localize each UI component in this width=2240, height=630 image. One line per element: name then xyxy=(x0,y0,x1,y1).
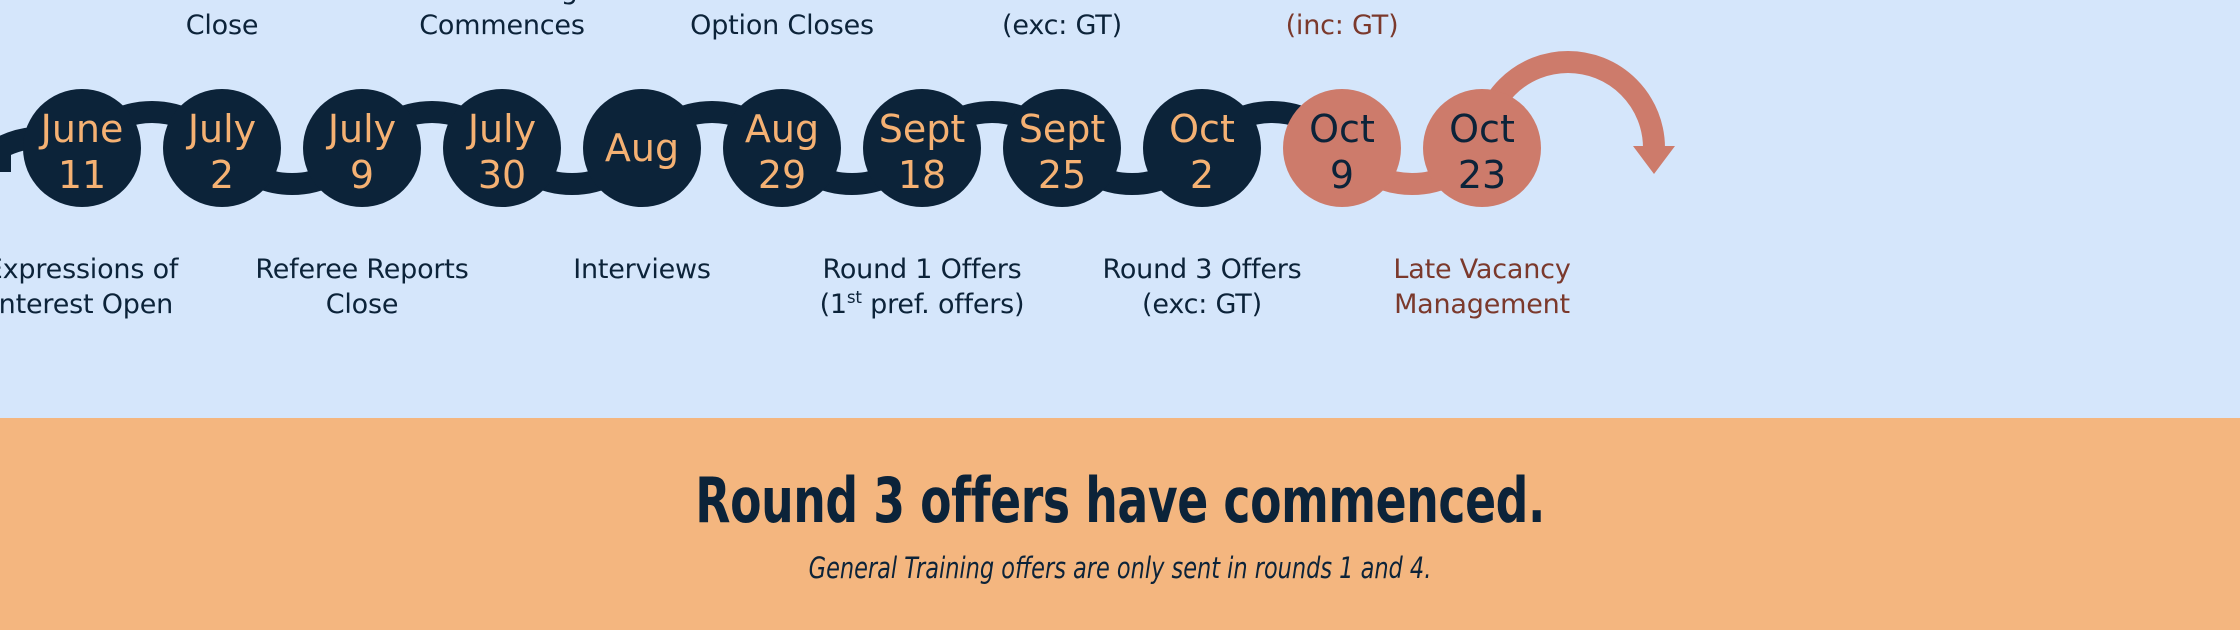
status-banner: Round 3 offers have commenced. General T… xyxy=(0,418,2240,630)
banner-headline: Round 3 offers have commenced. xyxy=(695,464,1545,537)
timeline-node-label-line: Round 4 Offers xyxy=(1142,0,1542,9)
timeline-node-month: July xyxy=(186,107,256,151)
timeline-node-label-line: (inc: GT) xyxy=(1142,9,1542,44)
timeline-node-month: Aug xyxy=(605,126,679,170)
timeline-node-day: 30 xyxy=(478,153,526,197)
timeline-node-month: Aug xyxy=(745,107,819,151)
timeline-node-day: 9 xyxy=(350,153,374,197)
timeline-node-label: Late VacancyManagement xyxy=(1282,253,1682,322)
banner-subtitle: General Training offers are only sent in… xyxy=(809,551,1432,585)
timeline-node-day: 2 xyxy=(210,153,234,197)
timeline-node-label-line: Late Vacancy xyxy=(1282,253,1682,288)
timeline-node-day: 25 xyxy=(1038,153,1086,197)
timeline-node-month: Oct xyxy=(1169,107,1235,151)
timeline-node-label: Round 4 Offers(inc: GT) xyxy=(1142,0,1542,43)
timeline-node-day: 2 xyxy=(1190,153,1214,197)
timeline-node-month: Oct xyxy=(1449,107,1515,151)
timeline-area: June11July2July9July30AugAug29Sept18Sept… xyxy=(0,0,2240,418)
infographic-root: June11July2July9July30AugAug29Sept18Sept… xyxy=(0,0,2240,630)
timeline-node-day: 29 xyxy=(758,153,806,197)
timeline-node-label-line: Close xyxy=(162,288,562,323)
timeline-node-month: Sept xyxy=(1019,107,1106,151)
timeline-node-month: July xyxy=(466,107,536,151)
timeline-node-day: 18 xyxy=(898,153,946,197)
timeline-node-day: 23 xyxy=(1458,153,1506,197)
timeline-node-month: Oct xyxy=(1309,107,1375,151)
timeline-node-label-line: Management xyxy=(1282,288,1682,323)
timeline-node-month: July xyxy=(326,107,396,151)
timeline-node-day: 9 xyxy=(1330,153,1354,197)
timeline-node-month: Sept xyxy=(879,107,966,151)
timeline-node-month: June xyxy=(39,107,124,151)
timeline-arrowhead-final xyxy=(1633,146,1675,174)
timeline-node-day: 11 xyxy=(58,153,106,197)
timeline-path-diagram: June11July2July9July30AugAug29Sept18Sept… xyxy=(0,0,2240,418)
